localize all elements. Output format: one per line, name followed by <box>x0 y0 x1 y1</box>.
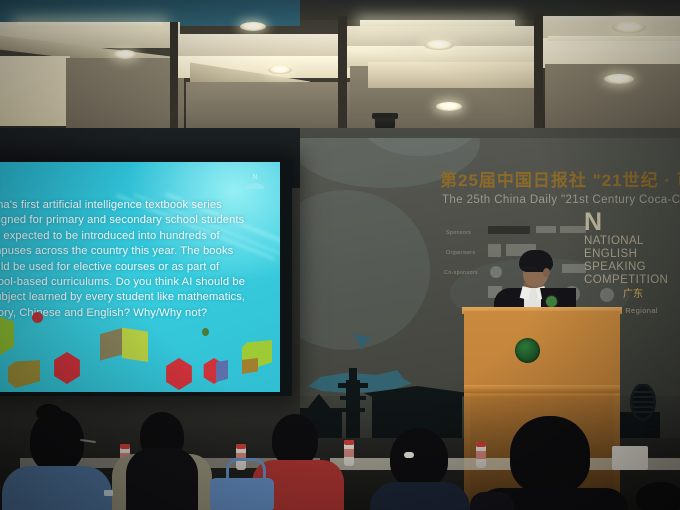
blue-tote-bag <box>210 478 274 510</box>
ceiling-panel-edge <box>368 62 536 88</box>
ceiling-downlight <box>424 40 454 50</box>
audience-area <box>0 396 680 510</box>
hair-clip <box>404 452 414 458</box>
slide-body-text: China's first artificial intelligence te… <box>0 198 252 321</box>
ceiling <box>0 0 680 128</box>
projection-screen-frame: N 3 China's first artificial intelligenc… <box>0 160 292 396</box>
sponsor-logo <box>536 226 556 233</box>
bottle-cap <box>344 440 354 445</box>
ceiling-seam <box>534 12 543 128</box>
ceiling-panel <box>0 56 70 126</box>
ceiling-recess <box>186 82 362 128</box>
girl-with-hairclip <box>370 482 470 510</box>
sun-circle <box>300 190 430 350</box>
ceiling-downlight <box>436 102 462 111</box>
dot-green-small <box>202 328 209 336</box>
shoulder-silhouette <box>470 492 514 510</box>
bottle-label <box>344 449 354 457</box>
silhouette-pagoda-tier <box>338 383 368 388</box>
credit-label-cosponsors: Co-sponsors <box>444 270 478 276</box>
hexagon-red-2 <box>164 358 194 390</box>
projection-screen: N 3 China's first artificial intelligenc… <box>0 162 280 392</box>
competition-line-3: SPEAKING <box>584 261 676 274</box>
cube-olive-small <box>8 360 40 388</box>
bottle-label <box>476 451 486 459</box>
competition-initial: N <box>584 210 676 235</box>
conference-hall-photo: 第25届中国日报社 "21世纪 · 可 The 25th China Daily… <box>0 0 680 510</box>
head-silhouette <box>272 414 318 466</box>
svg-text:N: N <box>252 174 257 181</box>
backdrop-title-cn: 第25届中国日报社 "21世纪 · 可 <box>440 166 680 191</box>
ceiling-downlight <box>612 22 646 33</box>
backdrop-title-en: The 25th China Daily "21st Century Coca-… <box>442 194 680 206</box>
ceiling-downlight <box>240 22 266 31</box>
cube-face-right <box>242 358 258 374</box>
hexagon-blue-face <box>216 360 228 382</box>
region-label-cn: 广东 <box>596 286 670 303</box>
head-silhouette <box>390 428 448 488</box>
competition-line-2: ENGLISH <box>584 248 676 261</box>
sponsor-logo-chinadaily <box>488 226 530 234</box>
ceiling-downlight <box>268 66 292 74</box>
water-bottle <box>476 442 486 468</box>
ceiling-light-strip <box>360 20 515 26</box>
speaker-ear <box>543 268 550 277</box>
sponsor-logo <box>560 226 586 233</box>
water-bottle <box>344 440 354 466</box>
head-silhouette <box>636 482 680 510</box>
head-silhouette <box>510 416 590 494</box>
smartphone <box>104 490 113 496</box>
head-silhouette <box>30 410 84 472</box>
credit-label-sponsors: Sponsors <box>446 230 471 236</box>
credit-label-organisers: Organisers <box>446 250 475 256</box>
bottle-cap <box>476 442 486 447</box>
region-label-en: Regional <box>625 306 658 315</box>
cosponsor-logo <box>490 266 502 278</box>
speaker-glasses <box>521 267 537 269</box>
bottle-cap <box>236 444 246 449</box>
ceiling-seam <box>338 16 347 128</box>
ceiling-light-strip <box>548 36 680 41</box>
podium-lip <box>464 385 620 393</box>
ceiling-seam <box>170 22 178 128</box>
bottle-cap <box>120 444 130 449</box>
green-circular-emblem <box>515 338 540 363</box>
organiser-logo <box>488 244 501 257</box>
competition-line-1: NATIONAL <box>584 235 676 248</box>
ceiling-recess <box>66 58 184 128</box>
person-center-dark <box>126 448 198 510</box>
silhouette-pagoda-spire <box>349 368 357 380</box>
region-band: 广东 <box>596 286 670 303</box>
ceiling-downlight <box>113 50 137 59</box>
paper-stack <box>612 446 648 470</box>
woman-blue-shirt-glasses <box>2 466 112 510</box>
slide-corner-logo-icon: N <box>240 170 270 194</box>
ceiling-downlight <box>604 74 634 84</box>
ceiling-light-strip <box>18 22 163 27</box>
hexagon-red-1 <box>52 352 82 384</box>
dot-red-small <box>32 312 43 323</box>
cosponsor-logo <box>562 264 586 273</box>
green-flower-badge <box>546 296 557 307</box>
cube-green-yellow <box>122 322 148 362</box>
competition-logo-block: N NATIONAL ENGLISH SPEAKING COMPETITION <box>584 210 676 287</box>
